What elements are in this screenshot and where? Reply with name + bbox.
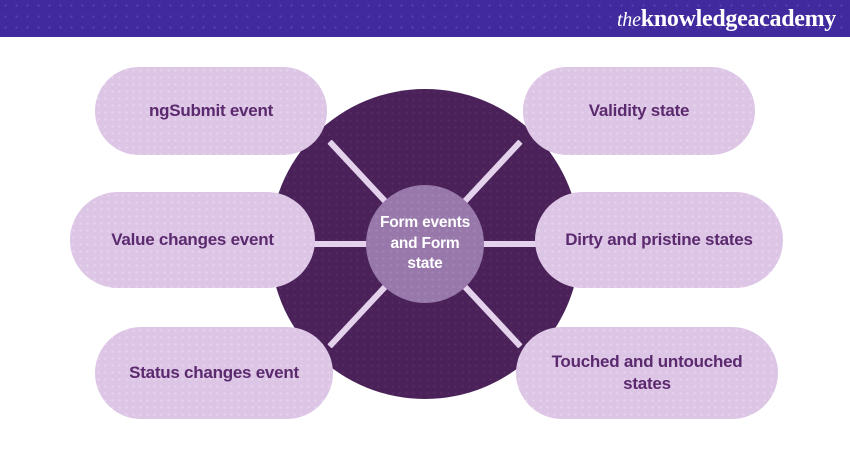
- node-label: Validity state: [575, 100, 703, 122]
- node-dirty-pristine-states: Dirty and pristine states: [535, 192, 783, 288]
- brand-logo-prefix: the: [617, 9, 641, 31]
- node-status-changes-event: Status changes event: [95, 327, 333, 419]
- node-label: Touched and untouched states: [516, 351, 778, 396]
- hub-center-node: Form events and Form state: [366, 185, 484, 303]
- hub-center-label: Form events and Form state: [366, 213, 484, 276]
- brand-logo: theknowledgeacademy: [617, 7, 836, 31]
- node-validity-state: Validity state: [523, 67, 755, 155]
- brand-header-bar: theknowledgeacademy: [0, 0, 850, 37]
- node-touched-untouched-states: Touched and untouched states: [516, 327, 778, 419]
- node-label: Status changes event: [115, 362, 313, 384]
- node-label: Value changes event: [97, 229, 288, 251]
- node-value-changes-event: Value changes event: [70, 192, 315, 288]
- node-label: Dirty and pristine states: [551, 229, 766, 251]
- node-ngsubmit-event: ngSubmit event: [95, 67, 327, 155]
- infographic-page: theknowledgeacademy ngSubmit event Value…: [0, 0, 850, 450]
- brand-logo-main: knowledgeacademy: [641, 6, 836, 32]
- node-label: ngSubmit event: [135, 100, 287, 122]
- diagram-canvas: ngSubmit event Value changes event Statu…: [0, 37, 850, 450]
